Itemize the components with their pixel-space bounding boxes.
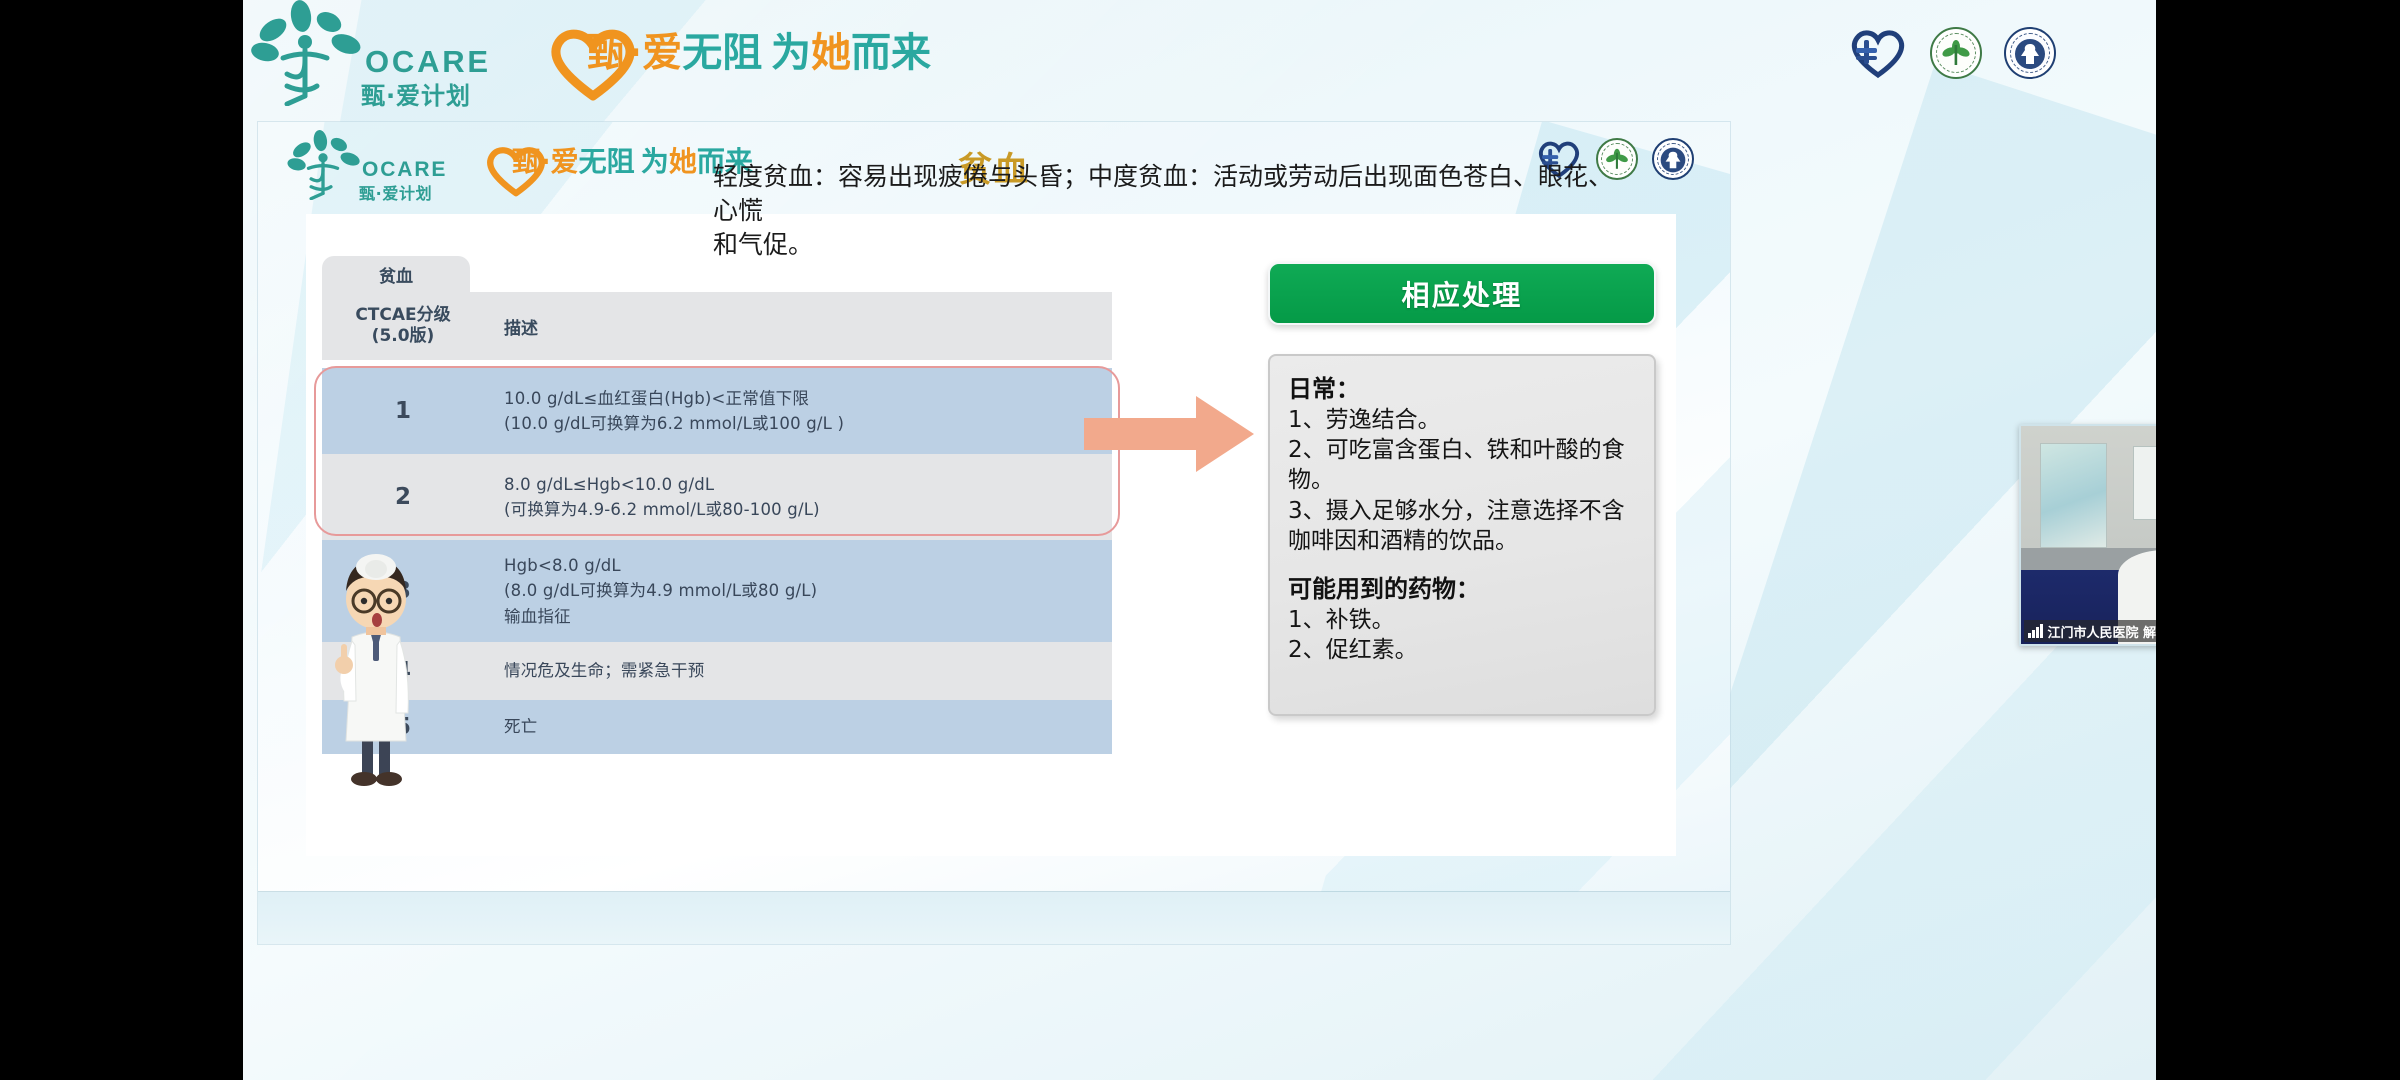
doctor-illustration bbox=[322, 541, 430, 791]
row-description-line: Hgb<8.0 g/dL bbox=[504, 553, 1112, 578]
table-row: 5 死亡 bbox=[322, 700, 1112, 754]
broadcast-canvas: OCARE 甄·爱计划 甄·爱无阻为她而来 bbox=[243, 0, 2156, 1080]
daily-care-item: 3、摄入足够水分，注意选择不含 bbox=[1288, 496, 1638, 526]
table-header-grade: CTCAE分级 (5.0版) bbox=[322, 305, 484, 348]
medication-title: 可能用到的药物： bbox=[1288, 574, 1638, 605]
banner-emblem-group bbox=[1848, 26, 2056, 80]
screen: OCARE 甄·爱计划 甄·爱无阻为她而来 bbox=[0, 0, 2400, 1080]
daily-care-item: 物。 bbox=[1288, 465, 1638, 495]
overlay-subtitle: 轻度贫血：容易出现疲倦与头昏；中度贫血：活动或劳动后出现面色苍白、眼花、心慌 和… bbox=[713, 160, 1623, 262]
row-description-line: 8.0 g/dL≤Hgb<10.0 g/dL bbox=[504, 472, 1112, 497]
top-banner: OCARE 甄·爱计划 甄·爱无阻为她而来 bbox=[243, 0, 2156, 120]
signal-strength-icon bbox=[2028, 624, 2043, 638]
slogan-part-5: 而来 bbox=[851, 30, 931, 76]
slogan-part-4: 她 bbox=[811, 30, 851, 76]
row-grade: 2 bbox=[322, 484, 484, 510]
row-description: 10.0 g/dL≤血红蛋白(Hgb)<正常值下限 (10.0 g/dL可换算为… bbox=[484, 386, 1112, 436]
green-ring-emblem-icon bbox=[1930, 27, 1982, 79]
ocare-wordmark-cn: 甄·爱计划 bbox=[361, 76, 471, 111]
daily-care-title: 日常： bbox=[1288, 374, 1638, 405]
participant-name-badge: 江门市人民医院 解小琴 bbox=[2024, 620, 2156, 642]
treatment-header-banner: 相应处理 bbox=[1268, 262, 1656, 325]
presentation-slide: OCARE 甄·爱计划 甄·爱无阻为她而来 贫血 bbox=[258, 122, 1730, 944]
row-description-line: (10.0 g/dL可换算为6.2 mmol/L或100 g/L ) bbox=[504, 411, 1112, 436]
navy-ring-emblem-icon bbox=[1652, 138, 1694, 180]
overlay-subtitle-line: 轻度贫血：容易出现疲倦与头昏；中度贫血：活动或劳动后出现面色苍白、眼花、心慌 bbox=[713, 160, 1623, 228]
heart-care-emblem-icon bbox=[1848, 26, 1908, 80]
table-tab-label: 贫血 bbox=[322, 256, 470, 292]
row-description-line: (可换算为4.9-6.2 mmol/L或80-100 g/L) bbox=[504, 497, 1112, 522]
row-description-line: 输血指征 bbox=[504, 604, 1112, 629]
table-header-description: 描述 bbox=[484, 314, 1112, 339]
medication-item: 1、补铁。 bbox=[1288, 605, 1638, 635]
daily-care-item: 2、可吃富含蛋白、铁和叶酸的食 bbox=[1288, 435, 1638, 465]
overlay-subtitle-line: 和气促。 bbox=[713, 228, 1623, 262]
table-header-grade-sub: (5.0版) bbox=[322, 326, 484, 347]
row-description-line: 死亡 bbox=[504, 714, 1112, 739]
slogan-part-1: 甄·爱 bbox=[587, 30, 682, 76]
slogan-part-3: 为 bbox=[771, 30, 811, 76]
treatment-header-label: 相应处理 bbox=[1402, 274, 1523, 314]
table-header-row: CTCAE分级 (5.0版) 描述 bbox=[322, 292, 1112, 360]
navy-ring-emblem-icon bbox=[2004, 27, 2056, 79]
daily-care-item: 1、劳逸结合。 bbox=[1288, 405, 1638, 435]
row-description: 8.0 g/dL≤Hgb<10.0 g/dL (可换算为4.9-6.2 mmol… bbox=[484, 472, 1112, 522]
navy-ring-core-icon bbox=[2013, 37, 2047, 71]
slogan-part-2: 无阻 bbox=[682, 30, 762, 76]
table-row: 3 Hgb<8.0 g/dL (8.0 g/dL可换算为4.9 mmol/L或8… bbox=[322, 540, 1112, 642]
row-grade: 1 bbox=[322, 398, 484, 424]
wall-poster bbox=[2040, 443, 2107, 548]
ocare-logo-banner: OCARE 甄·爱计划 bbox=[243, 0, 543, 110]
green-ring-core-icon bbox=[1941, 39, 1971, 69]
medication-item: 2、促红素。 bbox=[1288, 635, 1638, 665]
row-description-line: 10.0 g/dL≤血红蛋白(Hgb)<正常值下限 bbox=[504, 386, 1112, 411]
table-row: 2 8.0 g/dL≤Hgb<10.0 g/dL (可换算为4.9-6.2 mm… bbox=[322, 454, 1112, 540]
slide-bottom-band bbox=[258, 892, 1730, 944]
navy-ring-core-icon bbox=[1659, 146, 1687, 174]
flow-arrow-icon bbox=[1084, 392, 1256, 476]
table-row: 1 10.0 g/dL≤血红蛋白(Hgb)<正常值下限 (10.0 g/dL可换… bbox=[322, 368, 1112, 454]
ctcae-grade-table: 贫血 CTCAE分级 (5.0版) 描述 1 10.0 g/dL≤血红蛋白(Hg… bbox=[314, 256, 1132, 812]
daily-care-item: 咖啡因和酒精的饮品。 bbox=[1288, 526, 1638, 556]
slide-content-panel: 贫血 CTCAE分级 (5.0版) 描述 1 10.0 g/dL≤血红蛋白(Hg… bbox=[306, 214, 1676, 856]
table-row: 4 情况危及生命；需紧急干预 bbox=[322, 642, 1112, 700]
participant-name-label: 江门市人民医院 解小琴 bbox=[2048, 622, 2157, 641]
speaker-video-tile[interactable]: 江门市人民医院 解小琴 bbox=[2019, 424, 2156, 646]
section-spacer bbox=[1288, 556, 1638, 574]
wall-poster bbox=[2133, 446, 2156, 520]
table-header-grade-main: CTCAE分级 bbox=[322, 305, 484, 326]
campaign-slogan-banner: 甄·爱无阻为她而来 bbox=[553, 20, 931, 78]
ocare-leaf-figure-icon bbox=[243, 0, 373, 106]
row-description: Hgb<8.0 g/dL (8.0 g/dL可换算为4.9 mmol/L或80 … bbox=[484, 553, 1112, 628]
treatment-details-card: 日常： 1、劳逸结合。 2、可吃富含蛋白、铁和叶酸的食 物。 3、摄入足够水分，… bbox=[1268, 354, 1656, 716]
row-description-line: (8.0 g/dL可换算为4.9 mmol/L或80 g/L) bbox=[504, 578, 1112, 603]
row-description: 死亡 bbox=[484, 714, 1112, 739]
row-description: 情况危及生命；需紧急干预 bbox=[484, 658, 1112, 683]
row-description-line: 情况危及生命；需紧急干预 bbox=[504, 658, 1112, 683]
ocare-wordmark: OCARE bbox=[365, 44, 491, 80]
